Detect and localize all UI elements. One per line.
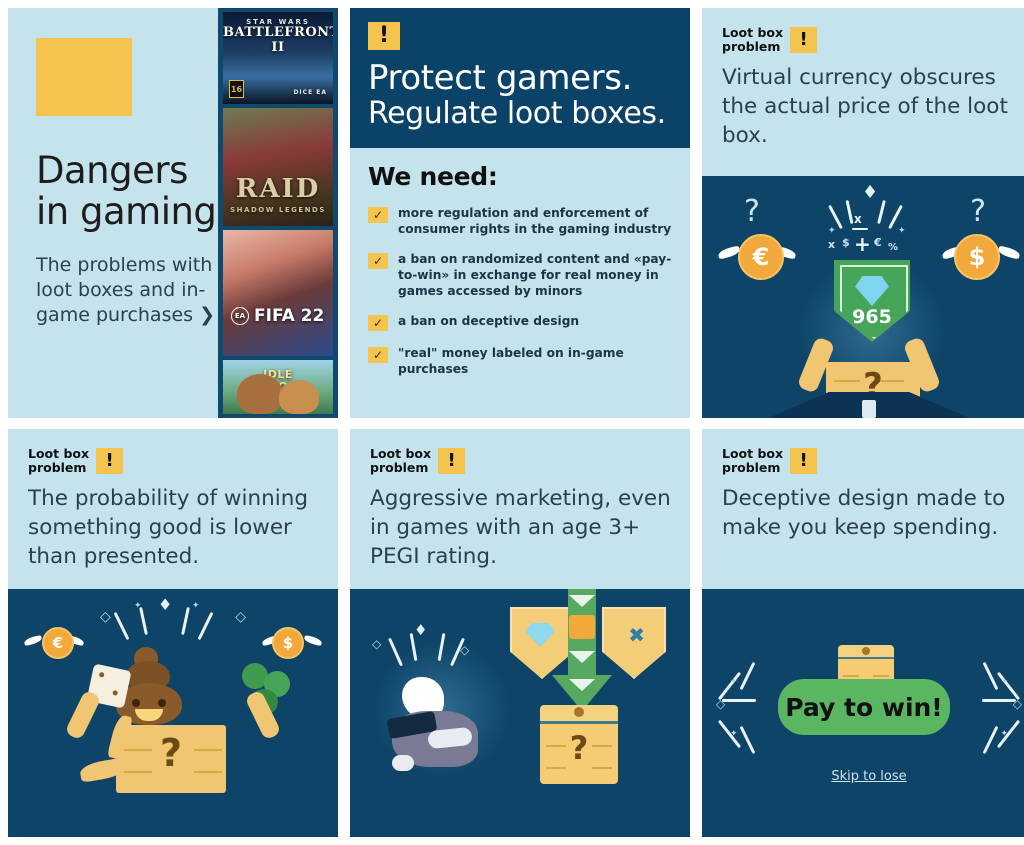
- math-symbol: +: [854, 232, 871, 256]
- chest-lock-icon: [862, 647, 870, 655]
- raid-title: RAID: [223, 174, 333, 204]
- thumbnail-idle-heroes[interactable]: IDLE HEROES: [223, 360, 333, 414]
- demands-list: ✓ more regulation and enforcement of con…: [368, 205, 674, 378]
- exclamation-icon: !: [96, 448, 123, 474]
- spark-ray: [722, 699, 756, 702]
- badge-label-line1: Loot box: [722, 447, 783, 461]
- dollar-coin-icon: $: [954, 234, 1000, 280]
- math-symbol: €: [874, 236, 882, 249]
- status-badge: Loot box problem !: [370, 447, 465, 475]
- problem-header: Loot box problem ! Aggressive marketing,…: [350, 429, 690, 571]
- problem-title: Deceptive design made to make you keep s…: [722, 485, 1024, 543]
- battlefront-publishers: DICE EA: [293, 89, 327, 96]
- demands-list-title: We need:: [368, 162, 674, 191]
- demands-heading-line2: Regulate loot boxes.: [368, 97, 672, 132]
- exclamation-icon: !: [438, 448, 465, 474]
- chest-line: [873, 675, 889, 677]
- badge-label-line2: problem: [722, 40, 783, 54]
- chest-line: [592, 767, 612, 769]
- spark-ray: [139, 607, 148, 635]
- list-item-label: a ban on deceptive design: [398, 313, 579, 329]
- demands-header: ! Protect gamers. Regulate loot boxes.: [350, 8, 690, 148]
- poop-eye: [158, 699, 166, 707]
- diamond-outline-icon: ◇: [716, 697, 725, 711]
- spark-ray: [740, 662, 756, 690]
- question-mark-icon: ?: [116, 731, 226, 775]
- fifa-title: FIFA 22: [254, 306, 324, 326]
- problem-header: Loot box problem ! The probability of wi…: [8, 429, 338, 571]
- math-fraction-bar: [852, 228, 868, 230]
- card-problem-deceptive-design: Loot box problem ! Deceptive design made…: [702, 429, 1024, 837]
- illustration-probability: € $ ♦ ◇ ◇ ✦ ✦: [8, 589, 338, 837]
- list-item: ✓ a ban on deceptive design: [368, 313, 674, 331]
- star-icon: ✦: [1000, 729, 1008, 739]
- card-intro: exclamation-mark Dangers in gaming The p…: [8, 8, 338, 418]
- swords-icon: ✖: [628, 623, 645, 647]
- ea-logo-icon: EA: [231, 307, 249, 325]
- badge-label-line1: Loot box: [370, 447, 431, 461]
- idle-heroes-character-icon: [237, 374, 283, 414]
- intro-text-column: exclamation-mark Dangers in gaming The p…: [8, 8, 218, 418]
- skip-to-lose-link[interactable]: Skip to lose: [702, 769, 1024, 784]
- infographic-grid: exclamation-mark Dangers in gaming The p…: [0, 0, 1024, 845]
- list-item: ✓ "real" money labeled on in-game purcha…: [368, 345, 674, 377]
- chest-line: [546, 767, 566, 769]
- math-symbol: %: [888, 242, 898, 253]
- diamond-outline-icon: ◇: [235, 609, 246, 625]
- spark-ray: [983, 662, 999, 690]
- demands-heading-line1: Protect gamers.: [368, 60, 672, 97]
- diamond-outline-icon: ◇: [100, 609, 111, 625]
- list-item: ✓ more regulation and enforcement of con…: [368, 205, 674, 237]
- wing-icon: [303, 635, 322, 646]
- person-foot-icon: [392, 755, 414, 771]
- badge-label-line2: problem: [722, 461, 783, 475]
- list-item-label: "real" money labeled on in-game purchase…: [398, 345, 674, 377]
- star-icon: ✦: [828, 226, 836, 236]
- receipt-icon: [862, 400, 876, 418]
- spark-ray: [181, 607, 190, 635]
- chest-line: [843, 675, 859, 677]
- pay-to-win-button[interactable]: Pay to win!: [778, 679, 950, 735]
- game-thumbnail-column: STAR WARS BATTLEFRONT II 16 DICE EA RAID…: [218, 8, 338, 418]
- spark-ray: [877, 200, 886, 224]
- raid-subtitle: SHADOW LEGENDS: [223, 206, 333, 214]
- star-icon: ✦: [898, 226, 906, 236]
- illustration-virtual-currency: ? ? € $ ♦ ✦ ✦ x + x $ € % 965: [702, 176, 1024, 418]
- illustration-pay-to-win: ✦ ✦ ◇ ✦ ✦ ◇ Pay to win! Skip to lose: [702, 589, 1024, 837]
- star-icon: ✦: [134, 601, 142, 611]
- badge-label-line1: Loot box: [722, 26, 783, 40]
- problem-title: The probability of winning something goo…: [28, 485, 338, 571]
- pegi-rating-badge: 16: [229, 80, 244, 98]
- problem-title: Aggressive marketing, even in games with…: [370, 485, 690, 571]
- spark-ray: [982, 699, 1016, 702]
- spark-ray: [198, 612, 214, 640]
- intro-subtitle[interactable]: The problems with loot boxes and in-game…: [36, 253, 218, 329]
- illustration-marketing: ♦ ◇ ◇ ✖ ?: [350, 589, 690, 837]
- problem-header: Loot box problem ! Virtual currency obsc…: [702, 8, 1024, 150]
- list-item: ✓ a ban on randomized content and «pay-t…: [368, 251, 674, 299]
- star-icon: ✦: [1000, 677, 1008, 687]
- wing-icon: [23, 635, 42, 646]
- spark-ray: [740, 726, 756, 754]
- euro-coin-icon: €: [738, 234, 784, 280]
- dollar-coin-icon: $: [272, 627, 304, 659]
- star-icon: ✦: [192, 601, 200, 611]
- diamond-outline-icon: ◇: [1013, 697, 1022, 711]
- star-icon: ✦: [730, 677, 738, 687]
- question-mark-icon: ?: [970, 194, 986, 229]
- list-item-label: more regulation and enforcement of consu…: [398, 205, 674, 237]
- math-symbol: x: [854, 212, 862, 226]
- question-mark-icon: ?: [540, 729, 618, 767]
- idle-heroes-character2-icon: [279, 380, 319, 414]
- check-icon: ✓: [368, 253, 388, 269]
- diamond-icon: ♦: [862, 182, 878, 203]
- page-title: Dangers in gaming: [36, 150, 218, 233]
- diamond-outline-icon: ◇: [372, 637, 381, 651]
- thumbnail-raid-shadow-legends[interactable]: RAID SHADOW LEGENDS: [223, 108, 333, 226]
- problem-header: Loot box problem ! Deceptive design made…: [702, 429, 1024, 543]
- chevron-down-icon: [569, 679, 595, 691]
- math-symbol: x: [828, 238, 835, 251]
- badge-label-line2: problem: [28, 461, 89, 475]
- page-title-line1: Dangers: [36, 150, 218, 191]
- check-icon: ✓: [368, 347, 388, 363]
- battlefront-title: BATTLEFRONT II: [223, 25, 333, 55]
- box-arm-left: [64, 689, 101, 740]
- demands-body: We need: ✓ more regulation and enforceme…: [350, 148, 690, 378]
- chevron-down-icon: [569, 651, 595, 663]
- problem-title: Virtual currency obscures the actual pri…: [722, 64, 1024, 150]
- badge-label: Loot box problem: [370, 447, 431, 475]
- diamond-icon: ♦: [158, 595, 172, 614]
- status-badge: Loot box problem !: [722, 26, 817, 54]
- card-problem-probability: Loot box problem ! The probability of wi…: [8, 429, 338, 837]
- badge-label: Loot box problem: [28, 447, 89, 475]
- thumbnail-battlefront2[interactable]: STAR WARS BATTLEFRONT II 16 DICE EA: [223, 12, 333, 104]
- list-item-label: a ban on randomized content and «pay-to-…: [398, 251, 674, 299]
- spark-ray: [114, 612, 130, 640]
- diamond-icon: ♦: [414, 621, 427, 639]
- star-icon: ✦: [730, 729, 738, 739]
- question-mark-icon: ?: [744, 194, 760, 229]
- check-icon: ✓: [368, 207, 388, 223]
- spark-ray: [846, 200, 854, 224]
- euro-coin-icon: €: [42, 627, 74, 659]
- status-badge: Loot box problem !: [28, 447, 123, 475]
- gift-icon: [569, 615, 595, 639]
- spark-ray: [983, 726, 999, 754]
- wing-icon: [997, 245, 1021, 259]
- chest-lock-icon: [574, 707, 584, 717]
- chevron-down-icon: [569, 595, 595, 607]
- exclamation-icon: !: [790, 448, 817, 474]
- status-badge: Loot box problem !: [722, 447, 817, 475]
- badge-label: Loot box problem: [722, 26, 783, 54]
- badge-label: Loot box problem: [722, 447, 783, 475]
- math-symbol: $: [842, 236, 850, 249]
- card-demands: ! Protect gamers. Regulate loot boxes. W…: [350, 8, 690, 418]
- exclamation-icon: exclamation-mark: [36, 38, 132, 116]
- page-title-line2: in gaming: [36, 191, 218, 232]
- badge-label-line1: Loot box: [28, 447, 89, 461]
- exclamation-icon: !: [368, 22, 400, 50]
- poop-eye: [132, 699, 140, 707]
- check-icon: ✓: [368, 315, 388, 331]
- card-problem-marketing: Loot box problem ! Aggressive marketing,…: [350, 429, 690, 837]
- badge-label-line2: problem: [370, 461, 431, 475]
- card-problem-virtual-currency: Loot box problem ! Virtual currency obsc…: [702, 8, 1024, 418]
- thumbnail-fifa22[interactable]: EA FIFA 22: [223, 230, 333, 356]
- shield-value: 965: [834, 306, 910, 328]
- exclamation-icon: !: [790, 27, 817, 53]
- diamond-outline-icon: ◇: [460, 643, 469, 657]
